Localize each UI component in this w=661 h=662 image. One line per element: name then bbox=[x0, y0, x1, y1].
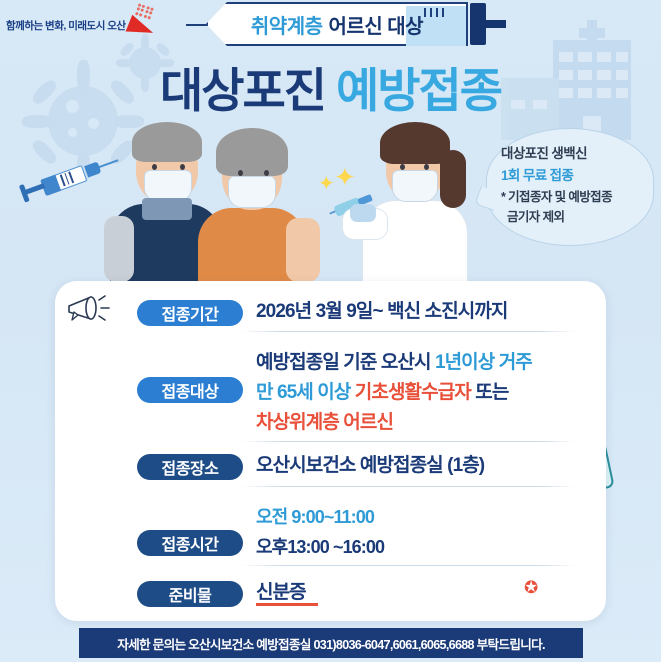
value-hours-morning: 오전 9:00~11:00 bbox=[256, 503, 374, 529]
footer-contact-text: 자세한 문의는 오산시보건소 예방접종실 031)8036-6047,6061,… bbox=[117, 634, 545, 653]
sparkle-icon: ✦ bbox=[334, 164, 356, 190]
page-title-part1: 대상포진 bbox=[160, 64, 325, 117]
row-separator bbox=[241, 441, 576, 442]
ribbon-rest-text: 어르신 대상 bbox=[329, 10, 424, 39]
value-eligibility-line2: 만 65세 이상 기초생활수급자 또는 bbox=[256, 377, 508, 404]
value-required-items: 신분증 ✪ bbox=[256, 577, 306, 604]
speech-bubble: 대상포진 생백신 1회 무료 접종 * 기접종자 및 예방접종 금기자 제외 bbox=[486, 128, 654, 246]
label-required-items: 준비물 bbox=[137, 581, 243, 607]
row-separator bbox=[241, 565, 576, 566]
city-logo: 함께하는 변화, 미래도시 오산 bbox=[6, 8, 162, 42]
city-logo-text: 함께하는 변화, 미래도시 오산 bbox=[6, 18, 126, 33]
poster-root: 함께하는 변화, 미래도시 오산 취약계층 어르신 대상 대상포진 예방접종 bbox=[0, 0, 661, 662]
value-vaccination-period: 2026년 3월 9일~ 백신 소진시까지 bbox=[256, 296, 508, 323]
page-title-part2: 예방접종 bbox=[336, 64, 501, 117]
ribbon-gradation-icon bbox=[424, 8, 458, 17]
label-hours: 접종시간 bbox=[137, 530, 243, 556]
bubble-line-2: 1회 무료 접종 bbox=[501, 165, 643, 187]
value-eligibility-line3: 차상위계층 어르신 bbox=[256, 407, 393, 434]
bubble-line-1: 대상포진 생백신 bbox=[501, 143, 643, 165]
value-eligibility-line1: 예방접종일 기준 오산시 1년이상 거주 bbox=[256, 347, 532, 374]
sparkle-icon: ✦ bbox=[318, 174, 335, 194]
value-location: 오산시보건소 예방접종실 (1층) bbox=[256, 450, 484, 477]
label-eligibility: 접종대상 bbox=[137, 377, 243, 403]
value-hours-afternoon: 오후13:00 ~16:00 bbox=[256, 533, 384, 559]
page-title: 대상포진 예방접종 bbox=[0, 52, 661, 121]
label-location: 접종장소 bbox=[137, 454, 243, 480]
id-underline bbox=[256, 603, 318, 606]
ribbon-plunger-icon bbox=[470, 3, 486, 45]
info-card: 접종기간 2026년 3월 9일~ 백신 소진시까지 접종대상 예방접종일 기준… bbox=[55, 281, 606, 621]
row-separator bbox=[241, 331, 576, 332]
bubble-line-4: 금기자 제외 bbox=[501, 207, 643, 227]
row-separator bbox=[241, 486, 576, 487]
arrow-icon bbox=[128, 8, 162, 42]
megaphone-icon bbox=[65, 293, 127, 323]
ribbon-needle-icon bbox=[186, 24, 208, 26]
header-ribbon: 취약계층 어르신 대상 bbox=[196, 2, 506, 48]
illustration-vaccination: ✦ ✦ bbox=[110, 112, 480, 284]
ribbon-highlight-text: 취약계층 bbox=[251, 10, 323, 39]
ribbon-plunger-rod-icon bbox=[486, 20, 506, 28]
bubble-line-3: * 기접종자 및 예방접종 bbox=[501, 187, 643, 207]
ribbon-body: 취약계층 어르신 대상 bbox=[206, 2, 468, 46]
star-icon: ✪ bbox=[524, 579, 537, 596]
label-vaccination-period: 접종기간 bbox=[137, 300, 243, 326]
footer-bar: 자세한 문의는 오산시보건소 예방접종실 031)8036-6047,6061,… bbox=[79, 628, 583, 658]
